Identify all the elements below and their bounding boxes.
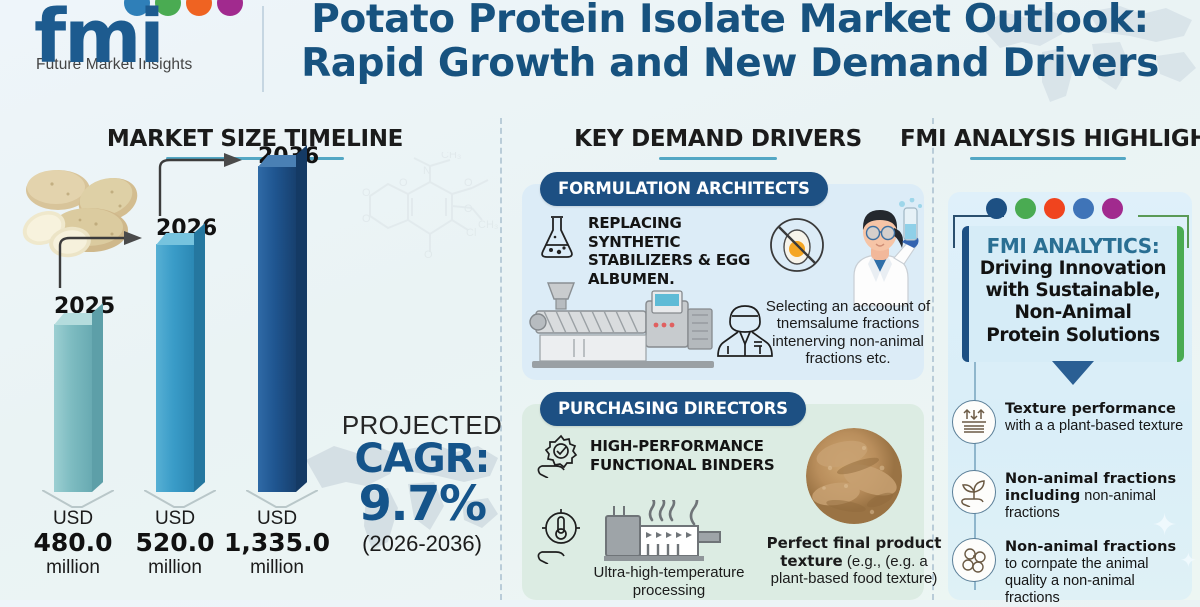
extruder-machine-icon xyxy=(528,277,718,373)
highlight-item-1-text: Texture performance with a a plant-based… xyxy=(1005,400,1192,444)
highlight-dot-3 xyxy=(1044,198,1065,219)
bar-value-2026: USD 520.0 million xyxy=(120,508,230,579)
highlight-item-2-bold: Non-animal fractions xyxy=(1005,471,1176,487)
bar-value-2025-currency: USD xyxy=(18,508,128,529)
highlight-statement-line-3: Non-Animal xyxy=(962,302,1184,324)
bar-2025-side xyxy=(92,303,103,492)
highlight-dot-4 xyxy=(1073,198,1094,219)
highlight-dots xyxy=(986,198,1123,219)
driver-pill-formulation-architects: FORMULATION ARCHITECTS xyxy=(540,172,828,206)
svg-text:O: O xyxy=(399,177,408,189)
driver-caption-formulation: Selecting an accoount of tnemsalume frac… xyxy=(762,298,934,368)
bar-value-2036-number: 1,335.0 xyxy=(222,529,332,557)
bar-value-2025-unit: million xyxy=(18,557,128,578)
svg-text:O: O xyxy=(464,203,473,215)
highlight-dot-5 xyxy=(1102,198,1123,219)
section-title-market-size: MARKET SIZE TIMELINE xyxy=(75,126,435,152)
bar-value-2025-number: 480.0 xyxy=(18,529,128,557)
section-heading-fmi-analysis: FMI ANALYSIS HIGHLIGHT xyxy=(900,126,1196,160)
protein-molecule-icon xyxy=(952,538,996,582)
highlight-statement-line-1: Driving Innovation xyxy=(962,258,1184,280)
highlight-item-1-rest: with a a plant-based texture xyxy=(1005,418,1183,434)
section-underline-fmi-analysis xyxy=(970,157,1126,160)
svg-text:O: O xyxy=(464,177,473,189)
svg-text:N: N xyxy=(423,165,431,177)
bar-value-2036-currency: USD xyxy=(222,508,332,529)
driver-caption-right-purchasing: Perfect final product texture (e.g., (e.… xyxy=(762,535,946,588)
bar-value-2025: USD 480.0 million xyxy=(18,508,128,579)
highlight-item-3-text: Non-animal fractions to cornpate the ani… xyxy=(1005,538,1192,607)
page-title: Potato Protein Isolate Market Outlook: R… xyxy=(280,0,1180,85)
svg-text:CH₃: CH₃ xyxy=(478,219,498,231)
highlight-item-1: Texture performance with a a plant-based… xyxy=(952,400,1192,444)
uht-processing-icon xyxy=(598,500,726,568)
highlight-item-3-rest: to cornpate the animal quality a non-ani… xyxy=(1005,556,1148,606)
section-underline-demand-drivers xyxy=(659,157,777,160)
highlight-item-1-bold: Texture performance xyxy=(1005,401,1176,417)
highlight-item-3-bold: Non-animal fractions xyxy=(1005,539,1176,555)
cagr-value: 9.7% xyxy=(336,480,508,529)
highlight-dot-1 xyxy=(986,198,1007,219)
highlight-item-3: Non-animal fractions to cornpate the ani… xyxy=(952,538,1192,607)
highlight-bubble-text: FMI ANALYTICS: Driving Innovation with S… xyxy=(962,234,1184,347)
bar-2025-face xyxy=(54,324,92,492)
bar-2025 xyxy=(54,324,102,492)
svg-text:O: O xyxy=(362,213,371,225)
sparkle-decoration-2: ✦ xyxy=(1180,548,1197,573)
page-title-line-2: Rapid Growth and New Demand Drivers xyxy=(280,42,1180,86)
logo-wordmark: fmi xyxy=(34,0,262,74)
highlight-statement-line-4: Protein Solutions xyxy=(962,325,1184,347)
svg-text:O: O xyxy=(362,187,371,199)
plant-leaf-hand-icon xyxy=(952,470,996,514)
bar-value-2036-unit: million xyxy=(222,557,332,578)
bar-2026-face xyxy=(156,244,194,492)
fmi-logo[interactable]: fmi Future Market Insights xyxy=(28,0,256,74)
bar-group: 2025 2026 2036 xyxy=(26,160,326,600)
bar-2026-base-shadow xyxy=(144,490,216,508)
svg-text:CH₃: CH₃ xyxy=(441,152,461,161)
bar-value-2036: USD 1,335.0 million xyxy=(222,508,332,579)
bar-2036-side xyxy=(296,145,307,492)
svg-text:Cl: Cl xyxy=(466,227,476,239)
bar-2036-base-shadow xyxy=(246,490,318,508)
protein-powder-image xyxy=(806,428,902,524)
cagr-block: PROJECTED CAGR: 9.7% (2026-2036) xyxy=(336,412,508,557)
cagr-period: (2026-2036) xyxy=(336,531,508,557)
thermometer-in-hand-icon xyxy=(534,508,588,564)
bar-value-2026-currency: USD xyxy=(120,508,230,529)
scientist-illustration xyxy=(832,198,928,308)
highlight-bubble-pointer xyxy=(1052,361,1094,385)
chemical-structure-watermark: ON CH₃O OCH₃ ClO OO xyxy=(346,152,506,280)
cagr-label: CAGR: xyxy=(336,439,508,480)
flask-icon xyxy=(536,213,578,261)
section-title-demand-drivers: KEY DEMAND DRIVERS xyxy=(540,126,896,152)
section-heading-demand-drivers: KEY DEMAND DRIVERS xyxy=(540,126,896,160)
driver-heading-purchasing: HIGH-PERFORMANCE FUNCTIONAL BINDERS xyxy=(590,437,810,474)
header: fmi Future Market Insights Potato Protei… xyxy=(0,0,1200,108)
cagr-projected-label: PROJECTED xyxy=(336,412,508,439)
page-title-line-1: Potato Protein Isolate Market Outlook: xyxy=(280,0,1180,42)
bar-2036-face xyxy=(258,166,296,492)
bar-2026 xyxy=(156,244,204,492)
texture-performance-icon xyxy=(952,400,996,444)
highlight-item-2-mid: including xyxy=(1005,488,1080,504)
arrow-2026-to-2036 xyxy=(154,152,250,220)
no-egg-icon xyxy=(768,216,826,274)
bar-2025-base-shadow xyxy=(42,490,114,508)
logo-divider xyxy=(262,6,264,92)
market-size-chart: ON CH₃O OCH₃ ClO OO 2025 2026 xyxy=(8,160,508,600)
highlight-eyebrow: FMI ANALYTICS: xyxy=(962,234,1184,258)
svg-text:O: O xyxy=(424,249,433,261)
highlight-dot-2 xyxy=(1015,198,1036,219)
bar-value-2026-unit: million xyxy=(120,557,230,578)
section-title-fmi-analysis: FMI ANALYSIS HIGHLIGHT xyxy=(900,126,1196,152)
arrow-2025-to-2026 xyxy=(54,230,150,292)
bar-2026-side xyxy=(194,223,205,492)
infographic-page: fmi Future Market Insights Potato Protei… xyxy=(0,0,1200,600)
driver-pill-purchasing-directors: PURCHASING DIRECTORS xyxy=(540,392,806,426)
gear-in-hand-icon xyxy=(534,432,588,478)
driver-caption-left-purchasing: Ultra-high-temperature processing xyxy=(580,564,758,599)
highlight-statement-line-2: with Sustainable, xyxy=(962,280,1184,302)
sparkle-decoration-1: ✦ xyxy=(1152,508,1177,543)
bar-value-2026-number: 520.0 xyxy=(120,529,230,557)
bar-2036 xyxy=(258,166,306,492)
